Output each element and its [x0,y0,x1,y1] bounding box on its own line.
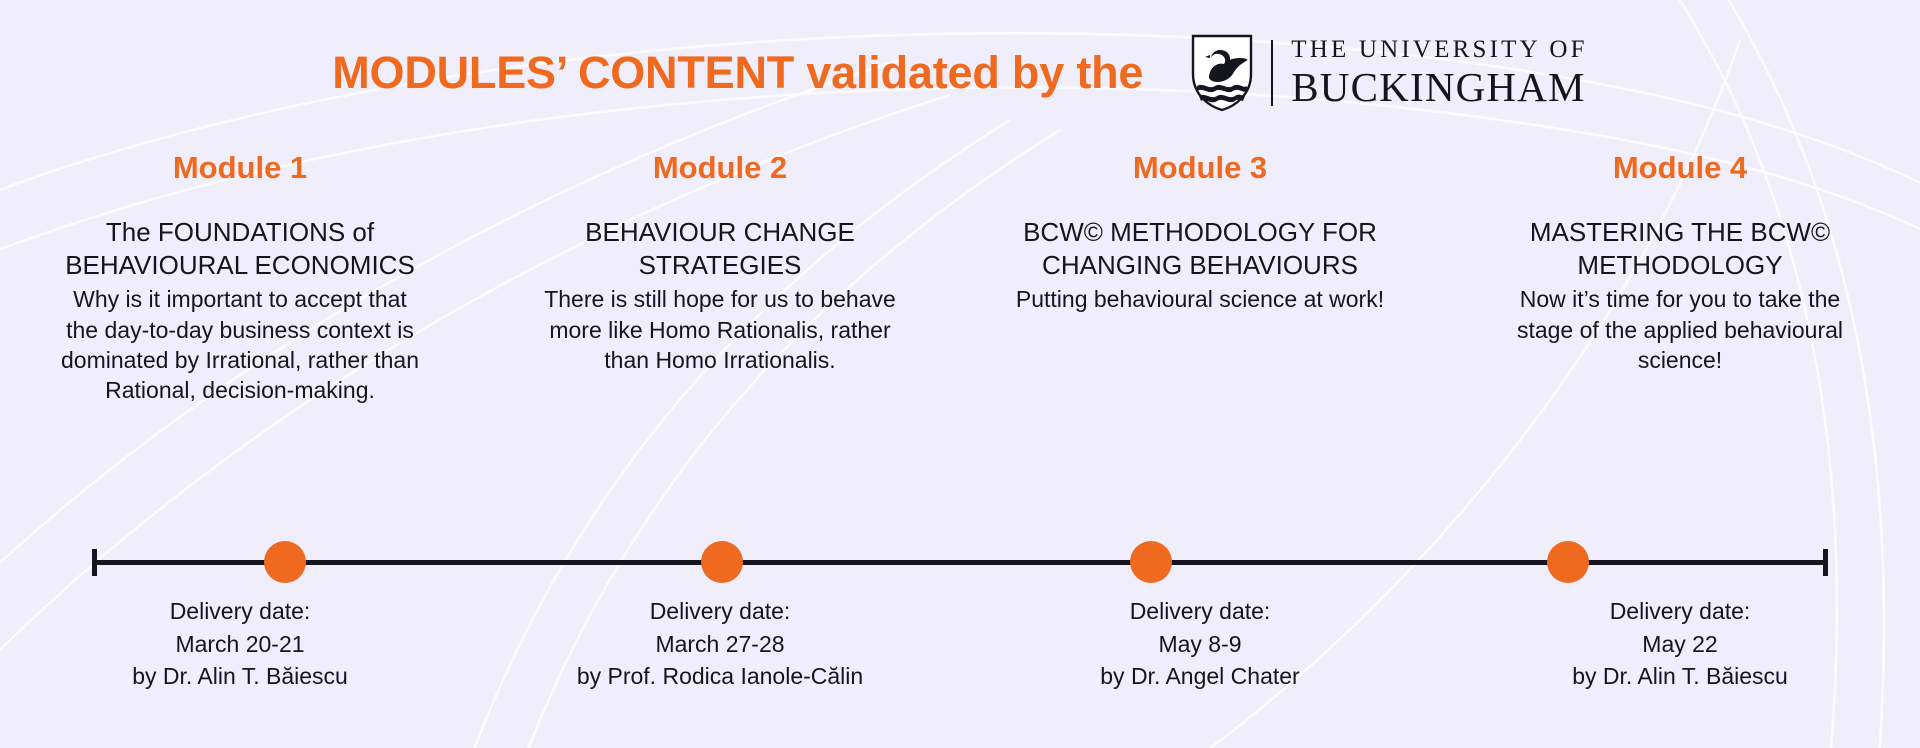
delivery-label: Delivery date: [500,595,940,628]
module-column-3: Module 3 BCW© METHODOLOGY FOR CHANGING B… [960,150,1440,550]
module-title: MASTERING THE BCW© METHODOLOGY [1495,216,1865,283]
filled-circle-marker-icon-1[interactable] [264,541,306,583]
module-heading: Module 3 [1133,150,1267,186]
delivery-date: May 22 [1460,628,1900,661]
university-logo: THE UNIVERSITY OF BUCKINGHAM [1191,34,1588,112]
module-column-1: Module 1 The FOUNDATIONS of BEHAVIOURAL … [0,150,480,550]
delivery-date: March 20-21 [20,628,460,661]
logo-divider [1271,40,1273,106]
delivery-label: Delivery date: [20,595,460,628]
page-header: MODULES’ CONTENT validated by the THE UN… [0,0,1920,145]
filled-circle-marker-icon-4[interactable] [1547,541,1589,583]
infographic-canvas: MODULES’ CONTENT validated by the THE UN… [0,0,1920,748]
module-heading: Module 2 [653,150,787,186]
module-column-2: Module 2 BEHAVIOUR CHANGE STRATEGIES The… [480,150,960,550]
line-end-tick-icon-left [92,549,97,576]
swan-shield-crest-icon [1191,34,1253,112]
delivery-presenter: by Dr. Angel Chater [980,660,1420,693]
delivery-presenter: by Dr. Alin T. Băiescu [1460,660,1900,693]
delivery-label: Delivery date: [980,595,1420,628]
page-title: MODULES’ CONTENT validated by the [332,50,1143,95]
line-end-tick-icon-right [1823,549,1828,576]
delivery-block-3: Delivery date: May 8-9 by Dr. Angel Chat… [960,595,1440,735]
delivery-date: May 8-9 [980,628,1420,661]
modules-row: Module 1 The FOUNDATIONS of BEHAVIOURAL … [0,150,1920,550]
delivery-dates-row: Delivery date: March 20-21 by Dr. Alin T… [0,595,1920,735]
module-description: Why is it important to accept that the d… [55,284,425,405]
module-description: Now it’s time for you to take the stage … [1495,284,1865,375]
module-title: The FOUNDATIONS of BEHAVIOURAL ECONOMICS [55,216,425,283]
module-column-4: Module 4 MASTERING THE BCW© METHODOLOGY … [1440,150,1920,550]
delivery-block-1: Delivery date: March 20-21 by Dr. Alin T… [0,595,480,735]
logo-line-the-university-of: THE UNIVERSITY OF [1291,37,1588,62]
module-description: There is still hope for us to behave mor… [535,284,905,375]
timeline [0,537,1920,587]
module-heading: Module 1 [173,150,307,186]
delivery-date: March 27-28 [500,628,940,661]
module-description: Putting behavioural science at work! [1016,284,1384,314]
delivery-presenter: by Dr. Alin T. Băiescu [20,660,460,693]
logo-line-buckingham: BUCKINGHAM [1291,67,1588,108]
delivery-block-2: Delivery date: March 27-28 by Prof. Rodi… [480,595,960,735]
module-heading: Module 4 [1613,150,1747,186]
delivery-block-4: Delivery date: May 22 by Dr. Alin T. Băi… [1440,595,1920,735]
delivery-presenter: by Prof. Rodica Ianole-Călin [500,660,940,693]
module-title: BCW© METHODOLOGY FOR CHANGING BEHAVIOURS [1015,216,1385,283]
logo-wordmark: THE UNIVERSITY OF BUCKINGHAM [1291,37,1588,108]
module-title: BEHAVIOUR CHANGE STRATEGIES [535,216,905,283]
filled-circle-marker-icon-3[interactable] [1130,541,1172,583]
delivery-label: Delivery date: [1460,595,1900,628]
filled-circle-marker-icon-2[interactable] [701,541,743,583]
